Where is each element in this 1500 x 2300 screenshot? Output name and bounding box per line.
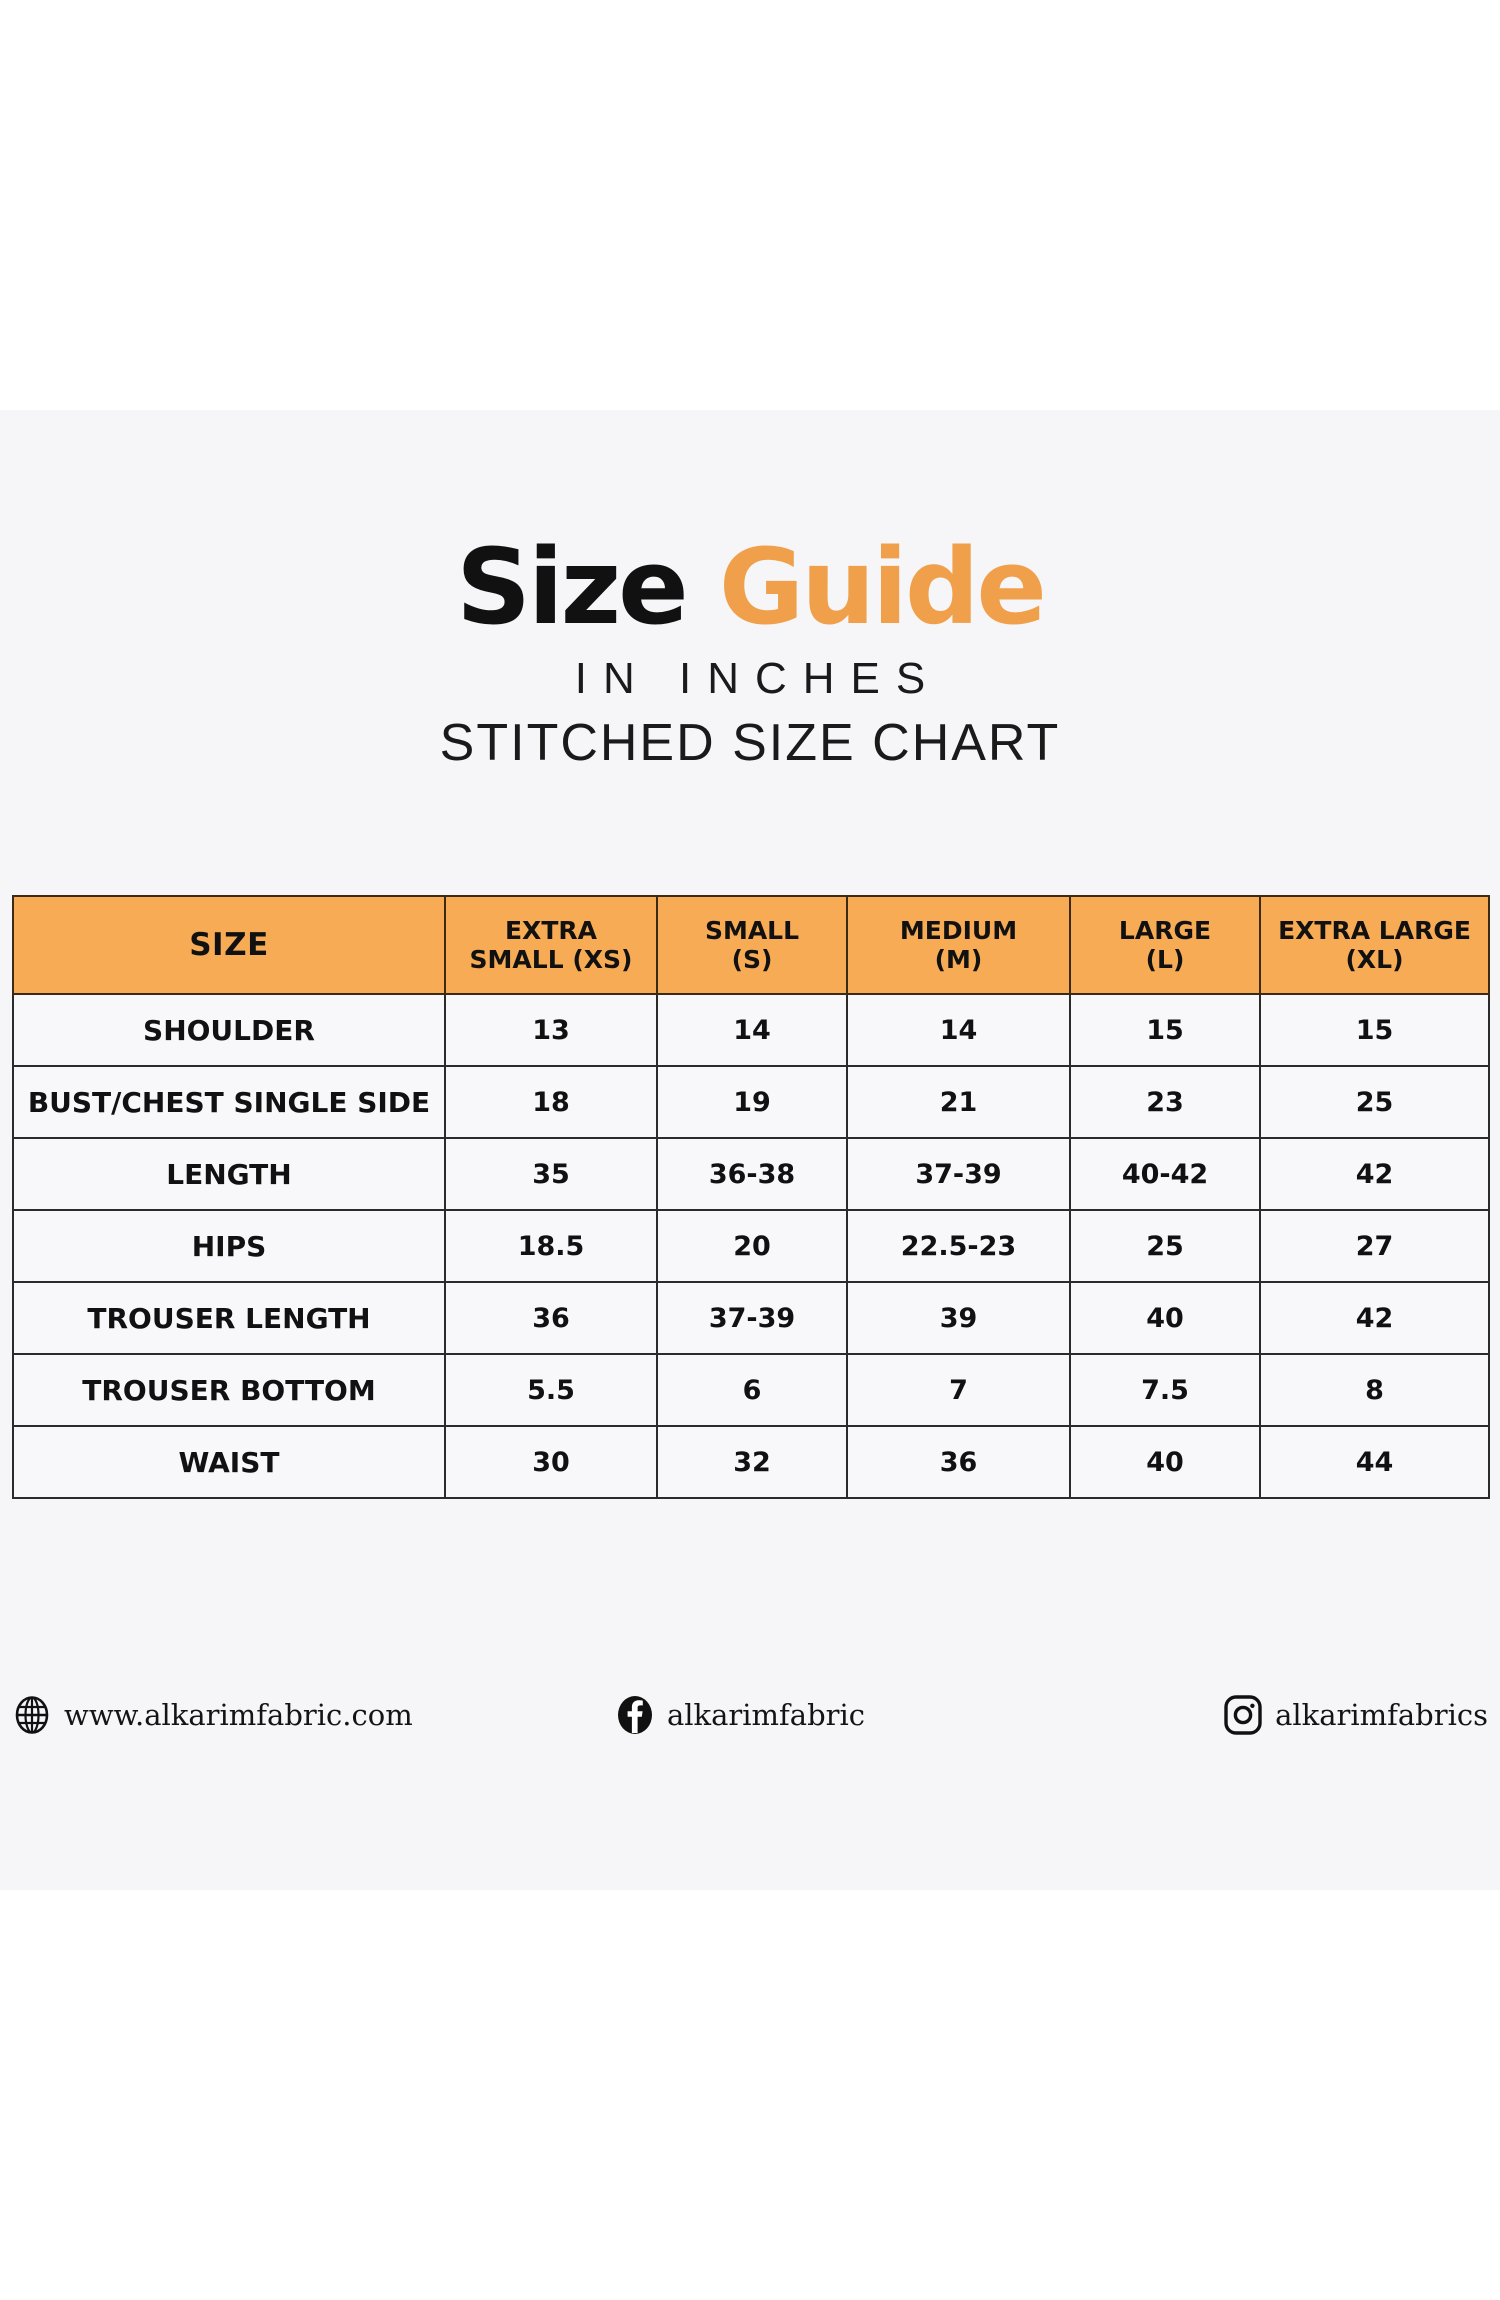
subtitle-chart: STITCHED SIZE CHART [0, 715, 1500, 772]
subtitle-units: IN INCHES [0, 655, 1500, 703]
column-header-xl-line1: EXTRA LARGE [1265, 916, 1484, 946]
row-label-trouser-bottom: TROUSER BOTTOM [13, 1354, 445, 1426]
cell-trouser-length-m: 39 [847, 1282, 1070, 1354]
cell-trouser-bottom-s: 6 [657, 1354, 847, 1426]
cell-hips-m: 22.5-23 [847, 1210, 1070, 1282]
row-label-shoulder: SHOULDER [13, 994, 445, 1066]
header-row: SIZE EXTRA SMALL (XS) SMALL (S) MEDIUM [13, 896, 1489, 994]
cell-waist-xl: 44 [1260, 1426, 1489, 1498]
cell-hips-l: 25 [1070, 1210, 1260, 1282]
cell-bust-m: 21 [847, 1066, 1070, 1138]
column-header-l-line1: LARGE [1075, 916, 1255, 946]
table-row: BUST/CHEST SINGLE SIDE 18 19 21 23 25 [13, 1066, 1489, 1138]
footer-instagram[interactable]: alkarimfabrics [988, 1695, 1488, 1735]
footer-contact-bar: www.alkarimfabric.com alkarimfabric alka… [12, 1680, 1488, 1750]
cell-waist-xs: 30 [445, 1426, 657, 1498]
cell-waist-m: 36 [847, 1426, 1070, 1498]
column-header-m-line1: MEDIUM [852, 916, 1065, 946]
title-word-size: Size [456, 526, 686, 648]
cell-waist-l: 40 [1070, 1426, 1260, 1498]
column-header-m-line2: (M) [852, 945, 1065, 975]
size-table-body: SHOULDER 13 14 14 15 15 BUST/CHEST SINGL… [13, 994, 1489, 1498]
row-label-waist: WAIST [13, 1426, 445, 1498]
cell-shoulder-xs: 13 [445, 994, 657, 1066]
cell-shoulder-s: 14 [657, 994, 847, 1066]
cell-shoulder-l: 15 [1070, 994, 1260, 1066]
table-row: TROUSER LENGTH 36 37-39 39 40 42 [13, 1282, 1489, 1354]
table-row: HIPS 18.5 20 22.5-23 25 27 [13, 1210, 1489, 1282]
cell-hips-xl: 27 [1260, 1210, 1489, 1282]
column-header-s-line1: SMALL [662, 916, 842, 946]
title-word-guide: Guide [719, 526, 1044, 648]
facebook-icon [615, 1695, 655, 1735]
size-table: SIZE EXTRA SMALL (XS) SMALL (S) MEDIUM [12, 895, 1490, 1499]
cell-bust-xs: 18 [445, 1066, 657, 1138]
row-label-length: LENGTH [13, 1138, 445, 1210]
size-guide-card: Size Guide IN INCHES STITCHED SIZE CHART… [0, 410, 1500, 1890]
instagram-icon [1223, 1695, 1263, 1735]
table-row: TROUSER BOTTOM 5.5 6 7 7.5 8 [13, 1354, 1489, 1426]
column-header-xl: EXTRA LARGE (XL) [1260, 896, 1489, 994]
globe-icon [12, 1695, 52, 1735]
row-label-trouser-length: TROUSER LENGTH [13, 1282, 445, 1354]
column-header-xl-line2: (XL) [1265, 945, 1484, 975]
column-header-xs: EXTRA SMALL (XS) [445, 896, 657, 994]
cell-trouser-bottom-xs: 5.5 [445, 1354, 657, 1426]
footer-facebook[interactable]: alkarimfabric [492, 1695, 988, 1735]
cell-trouser-bottom-m: 7 [847, 1354, 1070, 1426]
column-header-size: SIZE [13, 896, 445, 994]
cell-length-xl: 42 [1260, 1138, 1489, 1210]
table-row: WAIST 30 32 36 40 44 [13, 1426, 1489, 1498]
table-row: LENGTH 35 36-38 37-39 40-42 42 [13, 1138, 1489, 1210]
footer-website[interactable]: www.alkarimfabric.com [12, 1695, 492, 1735]
column-header-m: MEDIUM (M) [847, 896, 1070, 994]
title-block: Size Guide IN INCHES STITCHED SIZE CHART [0, 535, 1500, 773]
cell-trouser-length-s: 37-39 [657, 1282, 847, 1354]
instagram-label: alkarimfabrics [1275, 1698, 1488, 1732]
column-header-l-line2: (L) [1075, 945, 1255, 975]
cell-bust-l: 23 [1070, 1066, 1260, 1138]
cell-trouser-bottom-l: 7.5 [1070, 1354, 1260, 1426]
cell-trouser-length-xs: 36 [445, 1282, 657, 1354]
cell-waist-s: 32 [657, 1426, 847, 1498]
cell-shoulder-m: 14 [847, 994, 1070, 1066]
row-label-bust-chest: BUST/CHEST SINGLE SIDE [13, 1066, 445, 1138]
facebook-label: alkarimfabric [667, 1698, 865, 1732]
column-header-xs-line2: SMALL (XS) [450, 945, 652, 975]
cell-shoulder-xl: 15 [1260, 994, 1489, 1066]
website-label: www.alkarimfabric.com [64, 1698, 413, 1732]
cell-trouser-length-l: 40 [1070, 1282, 1260, 1354]
column-header-l: LARGE (L) [1070, 896, 1260, 994]
row-label-hips: HIPS [13, 1210, 445, 1282]
size-guide-page: Size Guide IN INCHES STITCHED SIZE CHART… [0, 0, 1500, 2300]
cell-length-s: 36-38 [657, 1138, 847, 1210]
cell-trouser-bottom-xl: 8 [1260, 1354, 1489, 1426]
cell-hips-xs: 18.5 [445, 1210, 657, 1282]
column-header-xs-line1: EXTRA [450, 916, 652, 946]
cell-length-m: 37-39 [847, 1138, 1070, 1210]
cell-bust-s: 19 [657, 1066, 847, 1138]
column-header-s-line2: (S) [662, 945, 842, 975]
page-title: Size Guide [0, 535, 1500, 639]
cell-length-l: 40-42 [1070, 1138, 1260, 1210]
column-header-size-line1: SIZE [18, 927, 440, 964]
size-table-header: SIZE EXTRA SMALL (XS) SMALL (S) MEDIUM [13, 896, 1489, 994]
column-header-s: SMALL (S) [657, 896, 847, 994]
cell-length-xs: 35 [445, 1138, 657, 1210]
cell-bust-xl: 25 [1260, 1066, 1489, 1138]
size-table-container: SIZE EXTRA SMALL (XS) SMALL (S) MEDIUM [12, 895, 1488, 1499]
cell-trouser-length-xl: 42 [1260, 1282, 1489, 1354]
cell-hips-s: 20 [657, 1210, 847, 1282]
table-row: SHOULDER 13 14 14 15 15 [13, 994, 1489, 1066]
